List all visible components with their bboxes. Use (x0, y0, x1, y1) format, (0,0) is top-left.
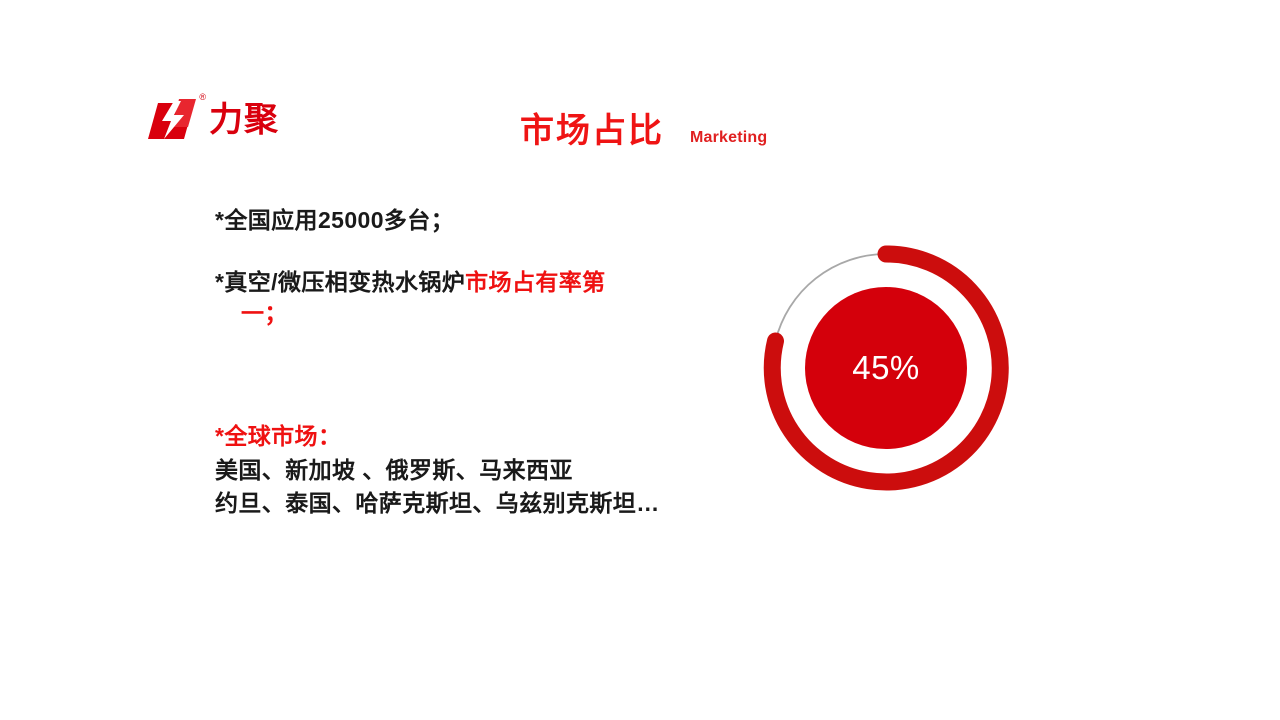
slide-canvas: ® 力聚 市场占比 Marketing *全国应用25000多台； *真空/微压… (0, 0, 1280, 720)
global-market-line-2: 约旦、泰国、哈萨克斯坦、乌兹别克斯坦… (215, 487, 775, 520)
market-share-donut-chart: 45% (755, 237, 1017, 499)
page-title-main: 市场占比 (520, 112, 664, 151)
liju-lightning-logo-icon: ® (148, 97, 200, 143)
donut-inner-circle (805, 287, 967, 449)
bullet-2-red-wrap: 一； (215, 298, 745, 328)
registered-trademark-icon: ® (199, 93, 206, 102)
bullet-market-share-first: *真空/微压相变热水锅炉市场占有率第 一； (215, 267, 745, 328)
bullet-2-red-text: 市场占有率第 (465, 269, 605, 295)
bullet-nationwide-units: *全国应用25000多台； (215, 205, 745, 235)
global-market-line-1: 美国、新加坡 、俄罗斯、马来西亚 (215, 454, 775, 487)
body-bullets: *全国应用25000多台； *真空/微压相变热水锅炉市场占有率第 一； (215, 205, 745, 328)
bullet-2-black-text: *真空/微压相变热水锅炉 (215, 269, 465, 295)
logo-wordmark: 力聚 (209, 103, 279, 137)
page-title-sub: Marketing (690, 129, 767, 147)
page-title: 市场占比 Marketing (520, 112, 767, 151)
brand-logo: ® 力聚 (148, 92, 408, 148)
global-market-block: *全球市场： 美国、新加坡 、俄罗斯、马来西亚 约旦、泰国、哈萨克斯坦、乌兹别克… (215, 420, 775, 520)
global-market-heading: *全球市场： (215, 420, 775, 452)
